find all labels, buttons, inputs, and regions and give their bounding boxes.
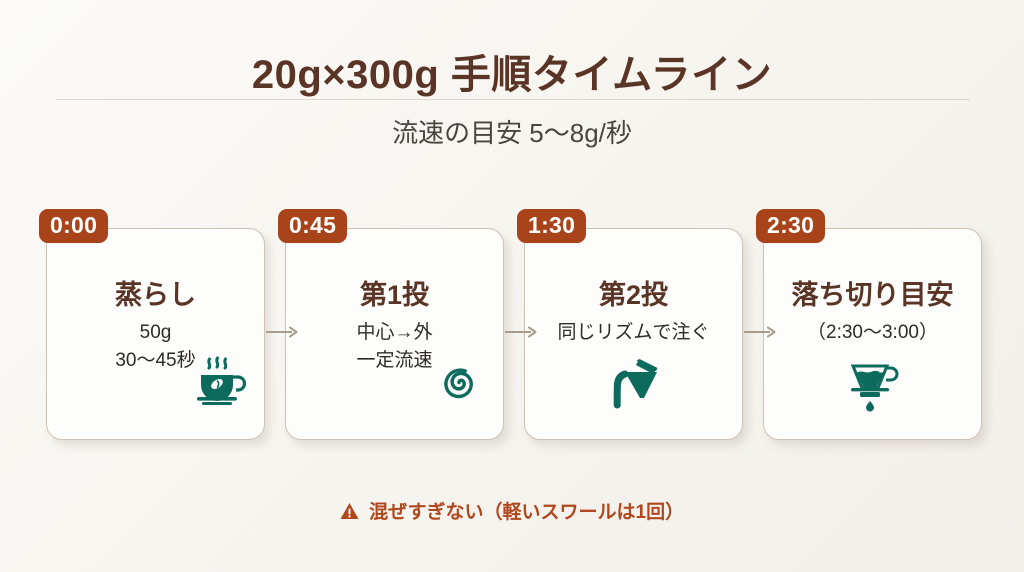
step-description-line: 中心→外 — [286, 319, 503, 347]
page-subtitle: 流速の目安 5〜8g/秒 — [0, 113, 1024, 150]
step-time-badge: 1:30 — [517, 209, 586, 243]
step-title: 落ち切り目安 — [764, 273, 981, 312]
page-title: 20g×300g 手順タイムライン — [0, 42, 1024, 100]
slide-canvas: 20g×300g 手順タイムライン 流速の目安 5〜8g/秒 0:00 蒸らし … — [0, 0, 1024, 572]
dripper-icon — [846, 357, 902, 413]
timeline-step-card[interactable]: 2:30 落ち切り目安 （2:30〜3:00） — [763, 228, 982, 440]
step-description-line: （2:30〜3:00） — [764, 319, 981, 347]
step-time-badge: 0:00 — [39, 209, 108, 243]
step-description: （2:30〜3:00） — [764, 319, 981, 347]
spiral-icon — [436, 359, 482, 405]
step-title: 第1投 — [286, 273, 503, 312]
step-title: 蒸らし — [47, 273, 264, 312]
warning-note: 混ぜすぎない（軽いスワールは1回） — [0, 497, 1024, 524]
step-title: 第2投 — [525, 273, 742, 312]
step-description-line: 50g — [47, 319, 264, 347]
timeline-step-card[interactable]: 0:45 第1投 中心→外 一定流速 — [285, 228, 504, 440]
step-time-badge: 0:45 — [278, 209, 347, 243]
pouring-kettle-icon — [605, 355, 665, 409]
warning-triangle-icon — [340, 502, 359, 520]
header-divider — [56, 99, 970, 100]
warning-note-text: 混ぜすぎない（軽いスワールは1回） — [369, 497, 684, 524]
step-time-badge: 2:30 — [756, 209, 825, 243]
steaming-coffee-cup-icon — [195, 355, 249, 407]
step-description: 同じリズムで注ぐ — [525, 319, 742, 347]
arrow-right-icon — [505, 326, 537, 338]
arrow-right-icon — [266, 326, 298, 338]
timeline-step-card[interactable]: 1:30 第2投 同じリズムで注ぐ — [524, 228, 743, 440]
step-description-line: 同じリズムで注ぐ — [525, 319, 742, 347]
timeline-step-card[interactable]: 0:00 蒸らし 50g 30〜45秒 — [46, 228, 265, 440]
arrow-right-icon — [744, 326, 776, 338]
